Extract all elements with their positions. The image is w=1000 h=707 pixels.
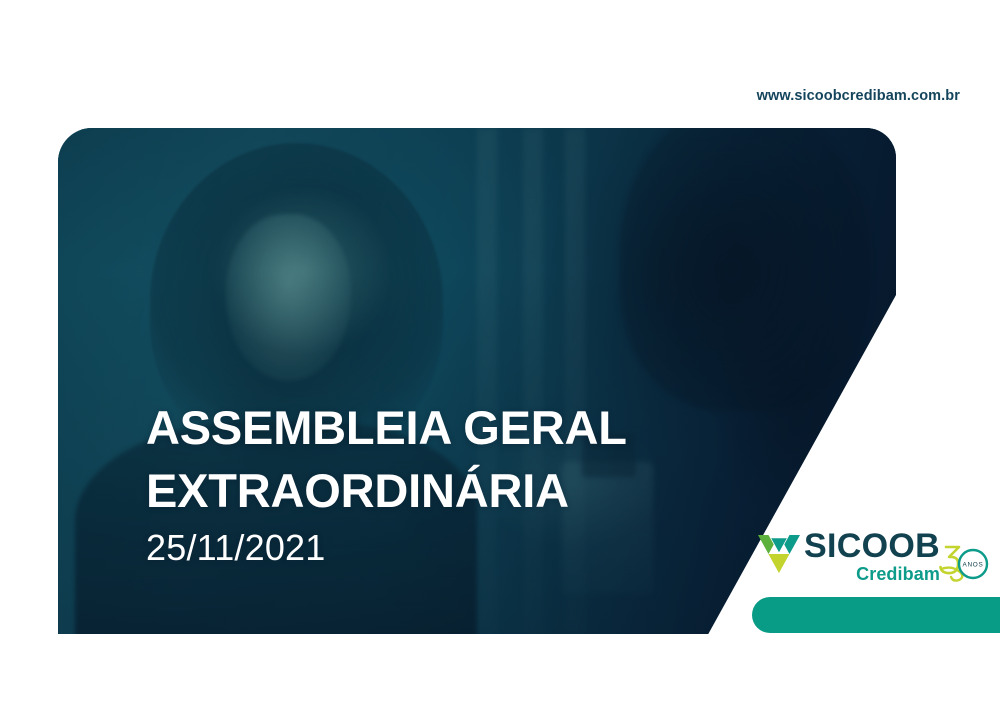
hero-title-line-2: EXTRAORDINÁRIA — [146, 460, 627, 523]
hero-text-group: ASSEMBLEIA GERAL EXTRAORDINÁRIA 25/11/20… — [146, 397, 627, 568]
anniversary-label: ANOS — [963, 562, 984, 569]
accent-bar — [752, 597, 1000, 633]
sicoob-brand-text: SICOOB — [804, 531, 940, 562]
sicoob-triangle-icon — [758, 535, 800, 573]
website-url: www.sicoobcredibam.com.br — [757, 88, 960, 104]
slide-canvas: www.sicoobcredibam.com.br ASSEMBLEIA GER… — [0, 0, 1000, 707]
hero-title-line-1: ASSEMBLEIA GERAL — [146, 397, 627, 460]
anniversary-30-anos-icon: ANOS — [938, 539, 992, 587]
sicoob-unit-text: Credibam — [856, 565, 940, 583]
sicoob-logo: SICOOB Credibam — [758, 531, 940, 583]
hero-date: 25/11/2021 — [146, 527, 627, 568]
sicoob-wordmark: SICOOB Credibam — [804, 531, 940, 583]
